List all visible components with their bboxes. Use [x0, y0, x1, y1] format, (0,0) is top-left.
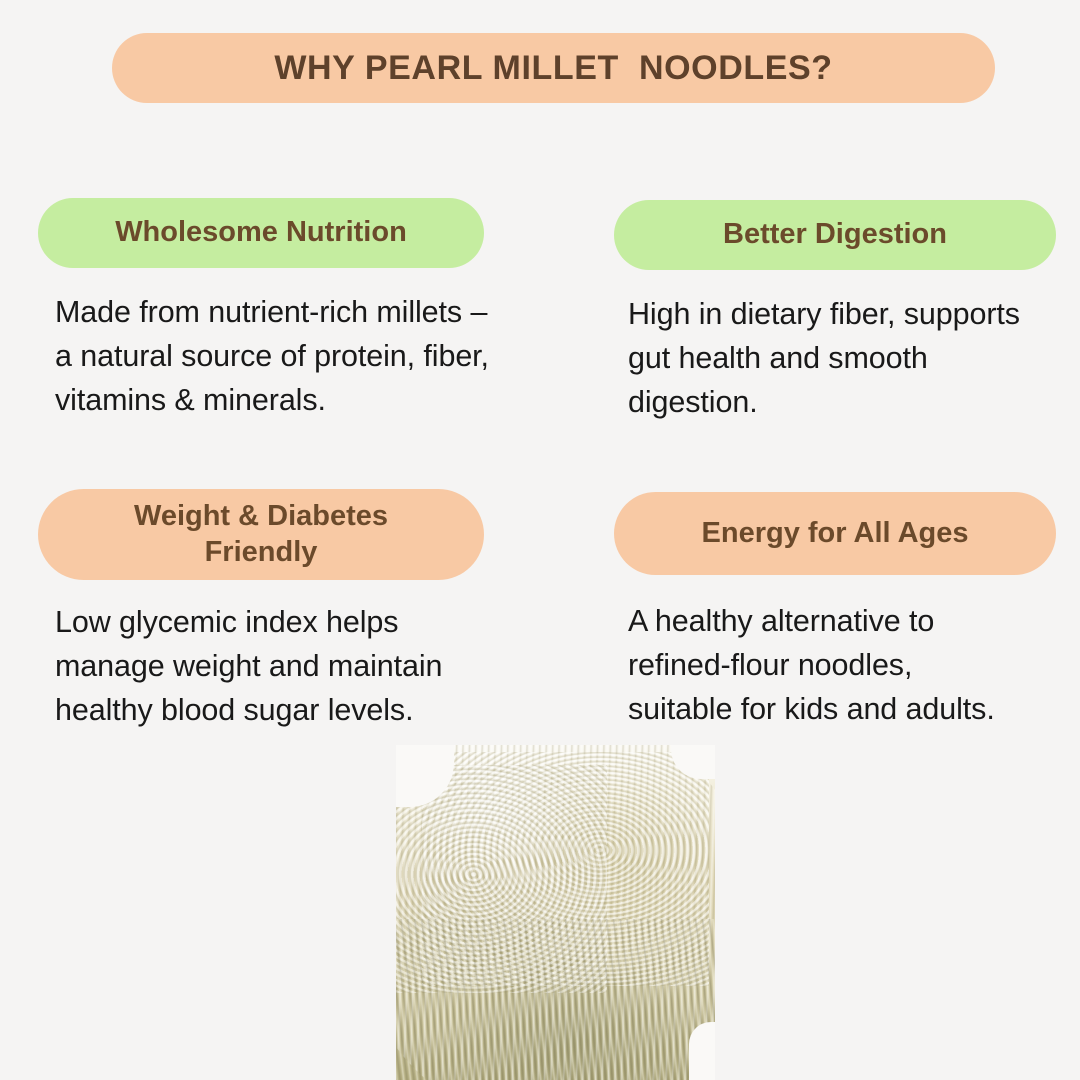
benefit-card-weight-diabetes-friendly: Weight & Diabetes Friendly Low glycemic …: [38, 489, 484, 732]
card-heading-label: Energy for All Ages: [702, 516, 969, 551]
noodle-strand-texture-lower: [396, 919, 715, 1080]
benefit-card-wholesome-nutrition: Wholesome Nutrition Made from nutrient-r…: [38, 198, 484, 422]
card-heading-label: Wholesome Nutrition: [115, 215, 407, 250]
card-body-text: Made from nutrient-rich millets – a natu…: [38, 290, 568, 422]
card-heading-pill: Wholesome Nutrition: [38, 198, 484, 268]
benefit-card-better-digestion: Better Digestion High in dietary fiber, …: [614, 200, 1056, 424]
card-heading-label: Weight & Diabetes Friendly: [134, 499, 388, 570]
card-body-text: Low glycemic index helps manage weight a…: [38, 600, 568, 732]
card-heading-label: Better Digestion: [723, 217, 947, 252]
benefit-card-energy-for-all-ages: Energy for All Ages A healthy alternativ…: [614, 492, 1056, 731]
card-heading-pill: Better Digestion: [614, 200, 1056, 270]
noodle-nest-photo: [396, 745, 715, 1080]
card-heading-pill: Weight & Diabetes Friendly: [38, 489, 484, 580]
card-heading-pill: Energy for All Ages: [614, 492, 1056, 575]
card-body-text: A healthy alternative to refined-flour n…: [614, 599, 1080, 731]
photo-corner-mask-bottom-right: [689, 1022, 715, 1080]
card-body-text: High in dietary fiber, supports gut heal…: [614, 292, 1080, 424]
